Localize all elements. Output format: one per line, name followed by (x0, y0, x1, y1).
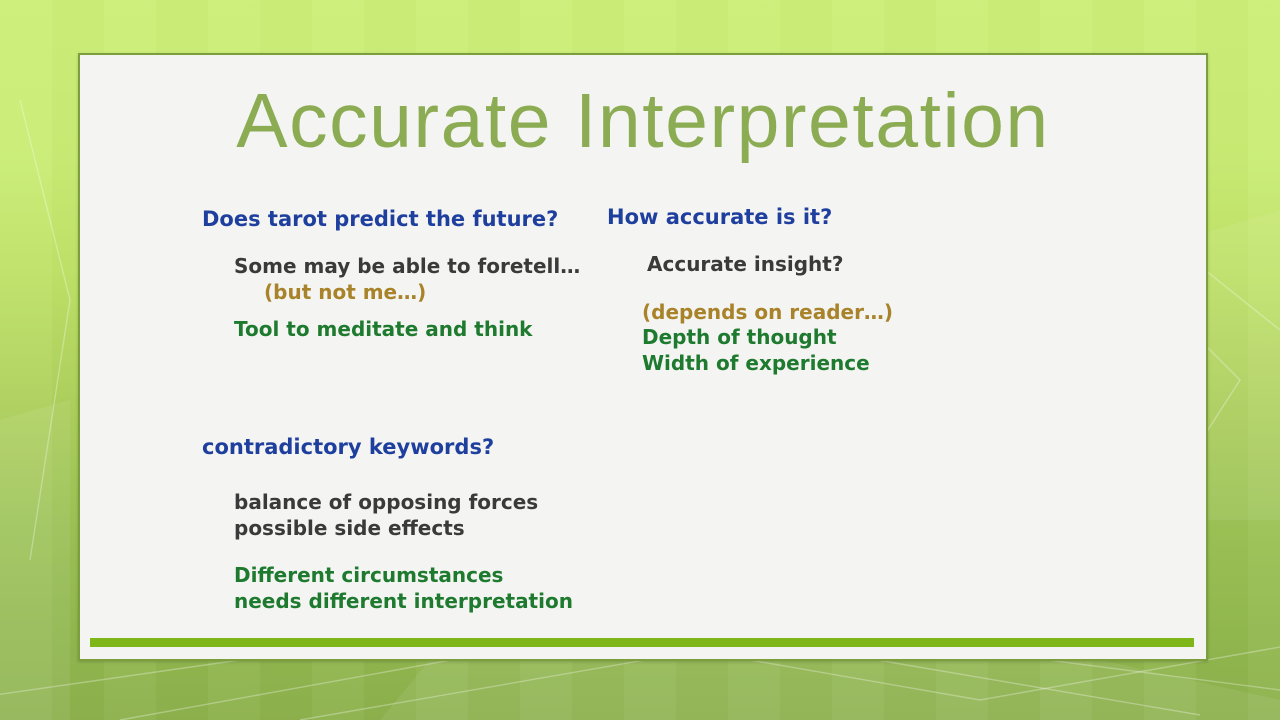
line-possible-side-effects: possible side effects (234, 516, 632, 542)
line-balance-opposing-forces: balance of opposing forces (234, 490, 632, 516)
slide: Accurate Interpretation Does tarot predi… (0, 0, 1280, 720)
content-panel: Accurate Interpretation Does tarot predi… (78, 53, 1208, 661)
line-but-not-me: (but not me…) (264, 280, 602, 306)
line-some-may-foretell: Some may be able to foretell… (234, 254, 602, 280)
column-left-bottom: contradictory keywords? balance of oppos… (202, 435, 632, 615)
page-title: Accurate Interpretation (80, 83, 1206, 160)
heading-how-accurate: How accurate is it? (607, 205, 987, 230)
line-depends-on-reader: (depends on reader…) (642, 300, 987, 326)
line-tool-to-meditate: Tool to meditate and think (234, 317, 602, 343)
line-width-of-experience: Width of experience (642, 351, 987, 377)
accent-bar (90, 638, 1194, 647)
column-left-top: Does tarot predict the future? Some may … (202, 207, 602, 343)
line-different-circumstances: Different circumstances (234, 563, 632, 589)
heading-contradictory-keywords: contradictory keywords? (202, 435, 632, 460)
line-accurate-insight: Accurate insight? (647, 252, 987, 278)
line-depth-of-thought: Depth of thought (642, 325, 987, 351)
line-needs-different-interpretation: needs different interpretation (234, 589, 632, 615)
column-right-top: How accurate is it? Accurate insight? (d… (607, 205, 987, 377)
heading-tarot-predict-future: Does tarot predict the future? (202, 207, 602, 232)
